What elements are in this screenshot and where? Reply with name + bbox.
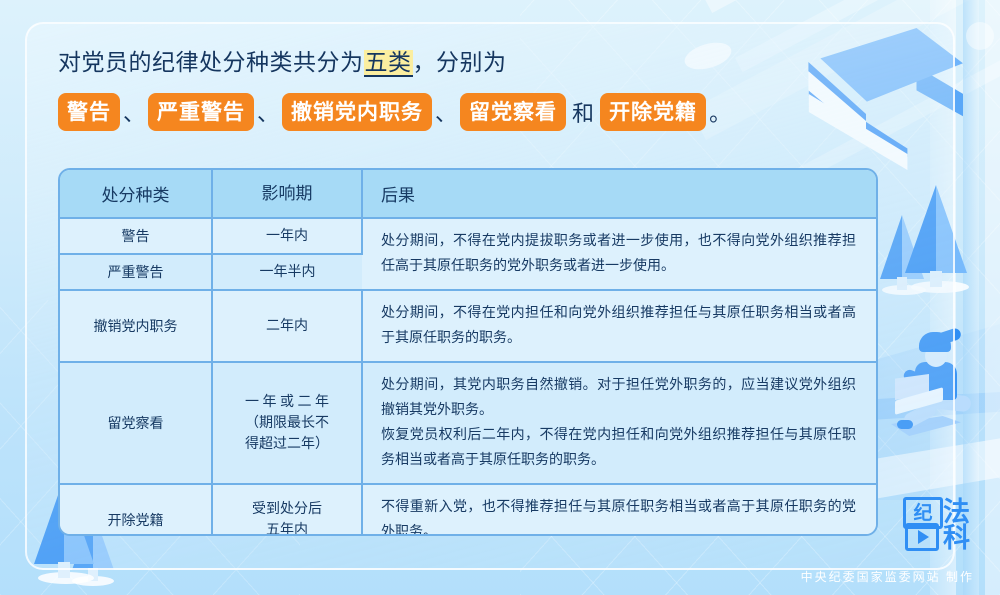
- table-row: 警告 一年内 处分期间，不得在党内提拔职务或者进一步使用，也不得向党外组织推荐担…: [60, 218, 876, 254]
- penalty-table: 处分种类 影响期 后果 警告 一年内 处分期间，不得在党内提拔职务或者进一步使用…: [60, 170, 876, 536]
- table-header-row: 处分种类 影响期 后果: [60, 170, 876, 218]
- play-icon: [918, 530, 929, 544]
- logo-char-ke: 科: [943, 525, 970, 552]
- headline-period: 。: [706, 96, 734, 128]
- infographic-canvas: 对党员的纪律处分种类共分为五类，分别为 警告 、 严重警告 、 撤销党内职务 、…: [0, 0, 1000, 595]
- chip-expulsion: 开除党籍: [600, 93, 706, 131]
- logo-char-bai-play: [905, 523, 939, 551]
- logo-char-fa: 法: [943, 499, 970, 526]
- table-row: 开除党籍 受到处分后 五年内 不得重新入党，也不得推荐担任与其原任职务相当或者高…: [60, 484, 876, 536]
- vertical-pillar: [985, 0, 1000, 595]
- headline-highlight: 五类: [364, 50, 413, 77]
- chip-warning: 警告: [58, 93, 120, 131]
- period-line: 受到处分后: [221, 499, 353, 520]
- headline-block: 对党员的纪律处分种类共分为五类，分别为 警告 、 严重警告 、 撤销党内职务 、…: [58, 46, 758, 131]
- headline-line-1: 对党员的纪律处分种类共分为五类，分别为: [58, 46, 758, 80]
- table-body: 警告 一年内 处分期间，不得在党内提拔职务或者进一步使用，也不得向党外组织推荐担…: [60, 218, 876, 536]
- cell-type-serious-warning: 严重警告: [60, 254, 212, 290]
- cell-type-expulsion: 开除党籍: [60, 484, 212, 536]
- brand-logo: 纪 法 科: [903, 497, 979, 553]
- cell-consequence-removal: 处分期间，不得在党内担任和向党外组织推荐担任与其原任职务相当或者高于其原任职务的…: [362, 290, 876, 362]
- penalty-table-wrapper: 处分种类 影响期 后果 警告 一年内 处分期间，不得在党内提拔职务或者进一步使用…: [58, 168, 878, 536]
- tree-shadow: [72, 576, 114, 586]
- headline-line-2: 警告 、 严重警告 、 撤销党内职务 、 留党察看 和 开除党籍 。: [58, 93, 758, 131]
- table-head: 处分种类 影响期 后果: [60, 170, 876, 218]
- cell-type-warning: 警告: [60, 218, 212, 254]
- consequence-paragraph: 处分期间，其党内职务自然撤销。对于担任党外职务的，应当建议党外组织撤销其党外职务…: [381, 373, 856, 423]
- footer-credit: 中央纪委国家监委网站 制作: [801, 568, 974, 585]
- cell-type-removal: 撤销党内职务: [60, 290, 212, 362]
- cell-period-serious-warning: 一年半内: [212, 254, 362, 290]
- cell-period-removal: 二年内: [212, 290, 362, 362]
- table-row: 撤销党内职务 二年内 处分期间，不得在党内担任和向党外组织推荐担任与其原任职务相…: [60, 290, 876, 362]
- table-row: 留党察看 一 年 或 二 年 （期限最长不 得超过二年） 处分期间，其党内职务自…: [60, 362, 876, 484]
- period-line: 五年内: [221, 520, 353, 536]
- cell-period-warning: 一年内: [212, 218, 362, 254]
- headline-text-before: 对党员的纪律处分种类共分为: [58, 50, 364, 75]
- chip-separator: 、: [254, 96, 282, 128]
- cell-period-probation: 一 年 或 二 年 （期限最长不 得超过二年）: [212, 362, 362, 484]
- chip-separator: 、: [432, 96, 460, 128]
- period-line: （期限最长不: [221, 413, 353, 434]
- period-line: 得超过二年）: [221, 434, 353, 455]
- cell-consequence-probation: 处分期间，其党内职务自然撤销。对于担任党外职务的，应当建议党外组织撤销其党外职务…: [362, 362, 876, 484]
- headline-text-after: ，分别为: [413, 50, 507, 75]
- tree-shadow: [38, 572, 94, 584]
- diagonal-band: [700, 0, 1000, 13]
- col-header-consequence: 后果: [362, 170, 876, 218]
- col-header-type: 处分种类: [60, 170, 212, 218]
- cell-consequence-expulsion: 不得重新入党，也不得推荐担任与其原任职务相当或者高于其原任职务的党外职务。: [362, 484, 876, 536]
- cell-consequence-warning: 处分期间，不得在党内提拔职务或者进一步使用，也不得向党外组织推荐担任高于其原任职…: [362, 218, 876, 290]
- chip-serious-warning: 严重警告: [148, 93, 254, 131]
- circle-decoration: [966, 22, 994, 50]
- consequence-paragraph: 恢复党员权利后二年内，不得在党内担任和向党外组织推荐担任与其原任职务相当或者高于…: [381, 423, 856, 473]
- chip-removal-from-party-post: 撤销党内职务: [282, 93, 432, 131]
- cell-period-expulsion: 受到处分后 五年内: [212, 484, 362, 536]
- col-header-period: 影响期: [212, 170, 362, 218]
- chip-conjunction: 和: [566, 96, 600, 128]
- chip-probation: 留党察看: [460, 93, 566, 131]
- cell-type-probation: 留党察看: [60, 362, 212, 484]
- chip-separator: 、: [120, 96, 148, 128]
- period-line: 一 年 或 二 年: [221, 392, 353, 413]
